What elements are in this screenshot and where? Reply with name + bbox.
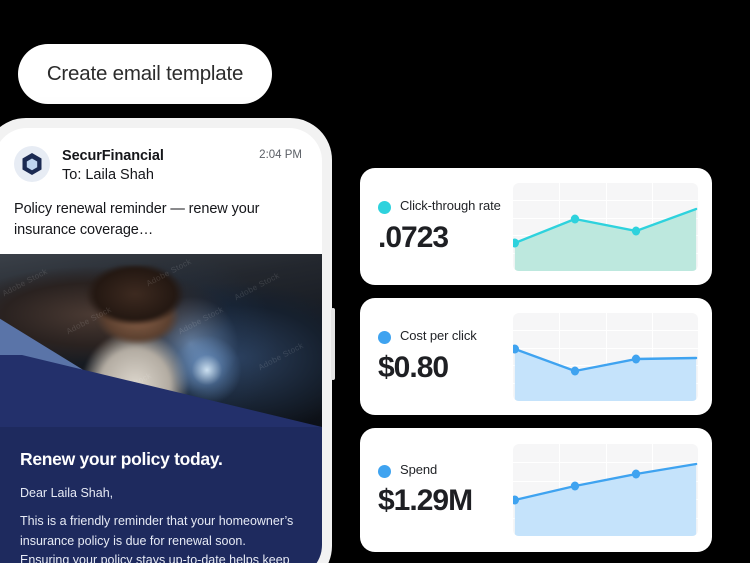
metric-card-info: Spend $1.29M [378, 462, 513, 519]
metric-card-info: Cost per click $0.80 [378, 328, 513, 385]
sender-meta: SecurFinancial To: Laila Shah [62, 146, 247, 185]
sparkline-points [513, 313, 698, 401]
email-body-headline: Renew your policy today. [20, 449, 296, 470]
screenshot-canvas: Create email template SecurFinancial To:… [0, 0, 750, 563]
email-hero-image: Adobe Stock Adobe Stock Adobe Stock Adob… [0, 254, 322, 427]
metric-card-cost-per-click[interactable]: Cost per click $0.80 [360, 298, 712, 415]
metric-card-info: Click-through rate .0723 [378, 198, 513, 255]
metric-label: Click-through rate [400, 198, 501, 215]
email-body-paragraph: This is a friendly reminder that your ho… [20, 512, 296, 563]
email-body: Renew your policy today. Dear Laila Shah… [0, 427, 322, 563]
metric-legend: Spend [378, 462, 513, 479]
sender-name: SecurFinancial [62, 147, 247, 165]
metric-value: $1.29M [378, 484, 513, 518]
sender-row: SecurFinancial To: Laila Shah 2:04 PM [14, 146, 302, 185]
metric-card-click-through-rate[interactable]: Click-through rate .0723 [360, 168, 712, 285]
metric-label: Cost per click [400, 328, 477, 345]
legend-dot-icon [378, 331, 391, 344]
email-body-greeting: Dear Laila Shah, [20, 486, 296, 500]
phone-screen: SecurFinancial To: Laila Shah 2:04 PM Po… [0, 128, 322, 563]
metric-label: Spend [400, 462, 437, 479]
metric-card-list: Click-through rate .0723 [360, 168, 712, 552]
hexagon-logo-icon [21, 152, 43, 176]
metric-value: $0.80 [378, 351, 513, 385]
metric-sparkline-chart [513, 313, 698, 401]
metric-sparkline-chart [513, 183, 698, 271]
sender-avatar [14, 146, 50, 182]
hero-overlay-triangle-bottom [0, 355, 322, 427]
create-email-template-label: Create email template [47, 62, 243, 86]
email-header: SecurFinancial To: Laila Shah 2:04 PM Po… [0, 128, 322, 254]
sparkline-points [513, 444, 698, 536]
phone-mockup: SecurFinancial To: Laila Shah 2:04 PM Po… [0, 118, 332, 563]
metric-value: .0723 [378, 221, 513, 255]
legend-dot-icon [378, 201, 391, 214]
email-subject: Policy renewal reminder — renew your ins… [14, 199, 302, 254]
metric-legend: Click-through rate [378, 198, 513, 215]
legend-dot-icon [378, 465, 391, 478]
metric-card-spend[interactable]: Spend $1.29M [360, 428, 712, 552]
email-timestamp: 2:04 PM [259, 146, 302, 161]
metric-legend: Cost per click [378, 328, 513, 345]
metric-sparkline-chart [513, 444, 698, 536]
recipient-line: To: Laila Shah [62, 166, 247, 185]
create-email-template-button[interactable]: Create email template [18, 44, 272, 104]
sparkline-points [513, 183, 698, 271]
phone-side-button[interactable] [331, 308, 335, 380]
